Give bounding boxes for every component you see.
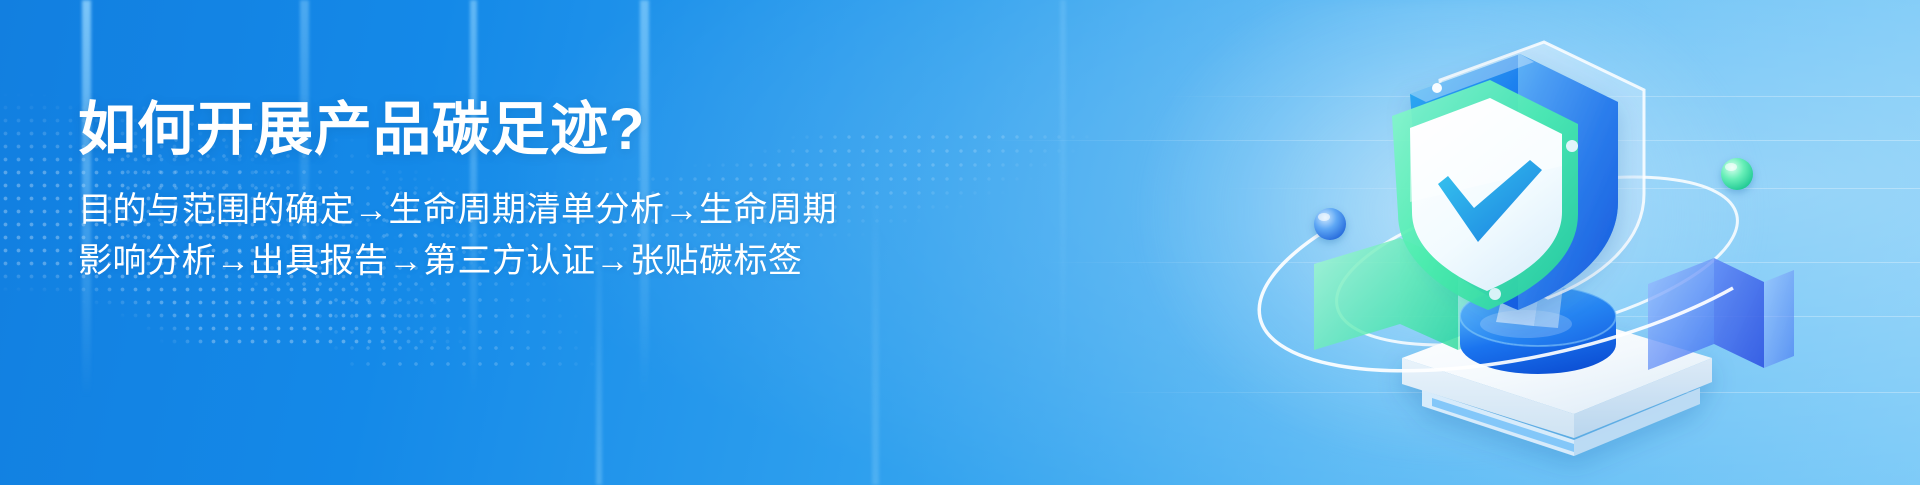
subtitle-line-2: 影响分析→出具报告→第三方认证→张贴碳标签	[78, 236, 958, 286]
light-streak	[1060, 0, 1066, 485]
shield-stud	[1432, 83, 1442, 93]
ribbon-blue	[1648, 258, 1794, 370]
subtitle-line-1: 目的与范围的确定→生命周期清单分析→生命周期	[78, 185, 958, 235]
banner-copy: 如何开展产品碳足迹? 目的与范围的确定→生命周期清单分析→生命周期 影响分析→出…	[78, 96, 958, 286]
orbit-sphere-green	[1721, 158, 1753, 190]
shield-stud	[1566, 140, 1578, 152]
shield-illustration	[1282, 6, 1802, 476]
banner-subtitle: 目的与范围的确定→生命周期清单分析→生命周期 影响分析→出具报告→第三方认证→张…	[78, 185, 958, 286]
carbon-footprint-banner: 如何开展产品碳足迹? 目的与范围的确定→生命周期清单分析→生命周期 影响分析→出…	[0, 0, 1920, 485]
shield-stud	[1489, 288, 1501, 300]
page-title: 如何开展产品碳足迹?	[78, 96, 958, 163]
orbit-sphere-blue	[1314, 208, 1346, 240]
